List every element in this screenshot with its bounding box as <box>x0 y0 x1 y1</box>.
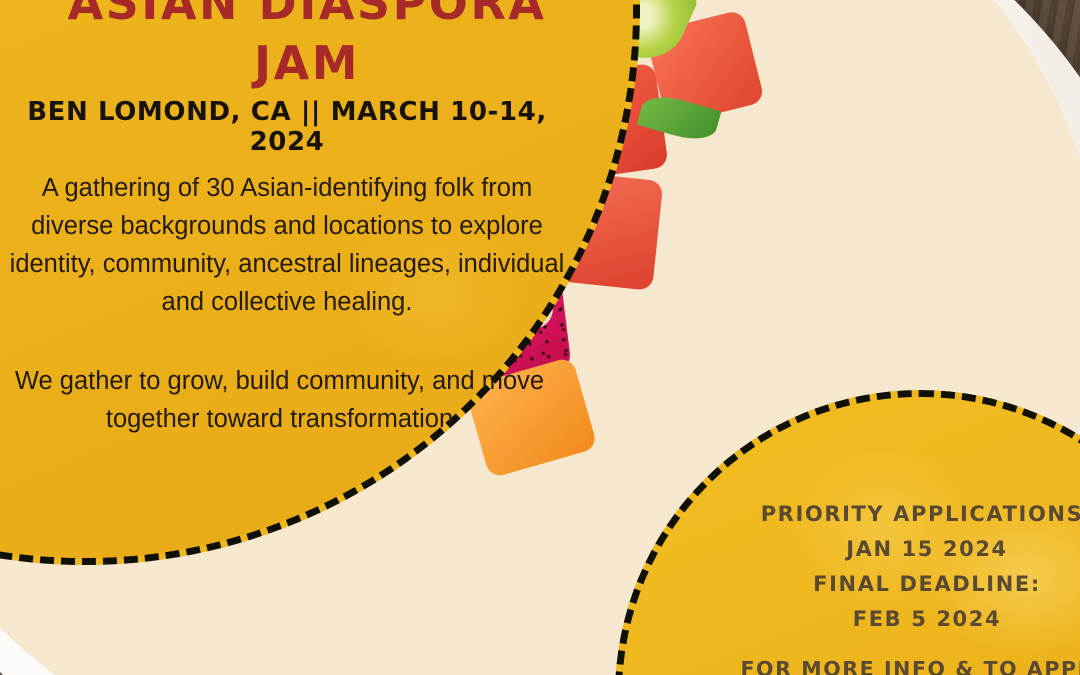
priority-applications-label: PRIORITY APPLICATIONS: <box>622 502 1080 526</box>
deadline-info-disc: PRIORITY APPLICATIONS: JAN 15 2024 FINAL… <box>615 390 1080 675</box>
priority-applications-date: JAN 15 2024 <box>622 537 1080 561</box>
page-title-line1: ASIAN DIASPORA <box>7 0 607 33</box>
event-location-dates: BEN LOMOND, CA || MARCH 10-14, 2024 <box>7 97 567 157</box>
description-paragraph-2: We gather to grow, build community, and … <box>7 362 552 438</box>
description-paragraph-1: A gathering of 30 Asian-identifying folk… <box>7 169 567 321</box>
poster-canvas: ASIAN DIASPORA JAM BEN LOMOND, CA || MAR… <box>0 0 1080 675</box>
final-deadline-date: FEB 5 2024 <box>622 607 1080 631</box>
page-title-line2: JAM <box>7 33 607 93</box>
final-deadline-label: FINAL DEADLINE: <box>622 572 1080 596</box>
deadline-disc-content: PRIORITY APPLICATIONS: JAN 15 2024 FINAL… <box>622 397 1080 675</box>
main-info-disc: ASIAN DIASPORA JAM BEN LOMOND, CA || MAR… <box>0 0 640 565</box>
main-disc-content: ASIAN DIASPORA JAM BEN LOMOND, CA || MAR… <box>7 7 633 558</box>
more-info-label: FOR MORE INFO & TO APPLY: <box>622 657 1080 675</box>
